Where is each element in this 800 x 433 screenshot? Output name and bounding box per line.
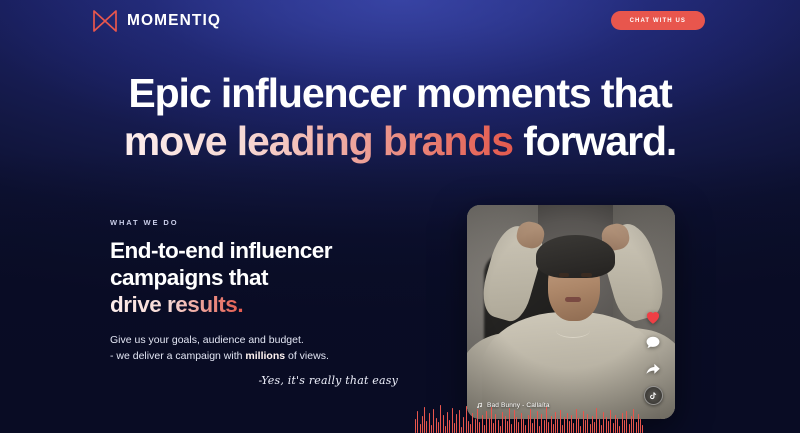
- audio-waveform: [415, 401, 643, 433]
- waveform-bar: [622, 413, 623, 433]
- body-line-1: Give us your goals, audience and budget.: [110, 332, 410, 348]
- waveform-bar: [468, 421, 469, 433]
- body-line-2: - we deliver a campaign with millions of…: [110, 348, 410, 364]
- waveform-bar: [447, 412, 448, 433]
- section-eyebrow: WHAT WE DO: [110, 218, 410, 227]
- site-header: MOMENTIQ CHAT WITH US: [0, 0, 800, 44]
- tiktok-video-card[interactable]: Bad Bunny - Callaíta: [467, 205, 675, 419]
- waveform-bar: [452, 408, 453, 433]
- waveform-bar: [445, 426, 446, 433]
- hero-line-2-highlight: leading brands: [237, 118, 513, 164]
- waveform-bar: [440, 405, 441, 433]
- waveform-bar: [594, 422, 595, 433]
- waveform-bar: [530, 409, 531, 433]
- waveform-bar: [537, 411, 538, 433]
- waveform-bar: [426, 421, 427, 433]
- waveform-bar: [539, 426, 540, 433]
- waveform-bar: [532, 423, 533, 433]
- waveform-bar: [608, 421, 609, 433]
- waveform-bar: [633, 409, 634, 433]
- waveform-bar: [557, 419, 558, 433]
- waveform-bar: [560, 410, 561, 433]
- waveform-bar: [615, 415, 616, 433]
- waveform-bar: [482, 415, 483, 433]
- hero-headline: Epic influencer moments that move leadin…: [0, 72, 800, 164]
- section-title-line-3-plain: drive: [110, 292, 167, 317]
- section-title-line-1: End-to-end influencer: [110, 237, 410, 264]
- waveform-bar: [541, 414, 542, 433]
- waveform-bar: [470, 424, 471, 433]
- waveform-bar: [521, 413, 522, 433]
- hero-line-2: move leading brands forward.: [0, 120, 800, 164]
- waveform-bar: [587, 414, 588, 433]
- waveform-bar: [596, 408, 597, 433]
- waveform-bar: [534, 418, 535, 433]
- what-we-do-panel: WHAT WE DO End-to-end influencer campaig…: [110, 218, 410, 387]
- waveform-bar: [436, 418, 437, 433]
- waveform-bar: [463, 417, 464, 433]
- waveform-bar: [507, 421, 508, 433]
- waveform-bar: [486, 411, 487, 433]
- waveform-bar: [489, 418, 490, 433]
- waveform-bar: [606, 417, 607, 433]
- waveform-bar: [500, 426, 501, 433]
- waveform-bar: [459, 410, 460, 433]
- waveform-bar: [493, 423, 494, 433]
- waveform-bar: [495, 414, 496, 433]
- waveform-bar: [415, 419, 416, 433]
- waveform-bar: [420, 424, 421, 433]
- waveform-bar: [599, 419, 600, 433]
- waveform-bar: [443, 415, 444, 433]
- waveform-bar: [438, 422, 439, 433]
- brand-logo[interactable]: MOMENTIQ: [92, 9, 221, 33]
- waveform-bar: [523, 419, 524, 433]
- waveform-bar: [461, 427, 462, 433]
- waveform-bar: [449, 420, 450, 433]
- section-body: Give us your goals, audience and budget.…: [110, 332, 410, 365]
- waveform-bar: [601, 425, 602, 433]
- waveform-bar: [553, 424, 554, 433]
- waveform-bar: [636, 422, 637, 433]
- body-line-2-highlight: millions: [245, 350, 285, 362]
- waveform-bar: [619, 426, 620, 433]
- brand-name: MOMENTIQ: [127, 13, 221, 29]
- waveform-bar: [629, 424, 630, 433]
- hero-line-2-prefix: move: [124, 118, 237, 164]
- waveform-bar: [509, 408, 510, 433]
- waveform-bar: [640, 419, 641, 433]
- waveform-bar: [555, 412, 556, 433]
- waveform-bar: [578, 418, 579, 433]
- body-line-2-prefix: - we deliver a campaign with: [110, 350, 245, 362]
- waveform-bar: [571, 415, 572, 433]
- waveform-bar: [456, 414, 457, 433]
- waveform-bar: [610, 410, 611, 433]
- waveform-bar: [433, 409, 434, 433]
- waveform-bar: [511, 424, 512, 433]
- hero-line-1: Epic influencer moments that: [0, 72, 800, 116]
- waveform-bar: [518, 422, 519, 433]
- waveform-bar: [564, 417, 565, 433]
- waveform-bar: [603, 412, 604, 433]
- waveform-bar: [546, 407, 547, 433]
- waveform-bar: [422, 416, 423, 433]
- waveform-bar: [544, 420, 545, 433]
- share-icon[interactable]: [644, 360, 662, 378]
- waveform-bar: [472, 413, 473, 433]
- like-icon[interactable]: [644, 308, 662, 326]
- hero-line-2-suffix: forward.: [513, 118, 676, 164]
- waveform-bar: [624, 420, 625, 433]
- waveform-bar: [590, 424, 591, 433]
- waveform-bar: [573, 423, 574, 433]
- momentiq-bowtie-mark-icon: [92, 9, 118, 33]
- waveform-bar: [502, 412, 503, 433]
- waveform-bar: [638, 414, 639, 433]
- waveform-bar: [613, 423, 614, 433]
- waveform-bar: [583, 411, 584, 433]
- waveform-bar: [484, 425, 485, 433]
- waveform-bar: [617, 418, 618, 433]
- chat-with-us-button[interactable]: CHAT WITH US: [611, 11, 705, 30]
- waveform-bar: [569, 421, 570, 433]
- section-title-line-2: campaigns that: [110, 264, 410, 291]
- waveform-bar: [592, 416, 593, 433]
- waveform-bar: [417, 411, 418, 433]
- waveform-bar: [642, 425, 643, 433]
- waveform-bar: [516, 417, 517, 433]
- waveform-bar: [514, 410, 515, 433]
- waveform-bar: [479, 422, 480, 433]
- waveform-bar: [454, 423, 455, 433]
- body-line-2-suffix: of views.: [285, 350, 329, 362]
- waveform-bar: [551, 416, 552, 433]
- section-title-line-3: drive results.: [110, 291, 410, 318]
- waveform-bar: [475, 419, 476, 433]
- waveform-bar: [626, 411, 627, 433]
- waveform-bar: [498, 420, 499, 433]
- waveform-bar: [528, 415, 529, 433]
- waveform-bar: [466, 406, 467, 433]
- waveform-bar: [477, 409, 478, 433]
- tiktok-action-rail: [640, 308, 666, 405]
- waveform-bar: [585, 420, 586, 433]
- waveform-bar: [548, 422, 549, 433]
- section-title-line-3-highlight: results.: [167, 292, 243, 317]
- landing-page: MOMENTIQ CHAT WITH US Epic influencer mo…: [0, 0, 800, 433]
- waveform-bar: [424, 407, 425, 433]
- comment-icon[interactable]: [644, 334, 662, 352]
- waveform-bar: [429, 413, 430, 433]
- waveform-bar: [491, 407, 492, 433]
- waveform-bar: [576, 409, 577, 433]
- tiktok-music-disc-icon[interactable]: [644, 386, 663, 405]
- waveform-bar: [525, 425, 526, 433]
- waveform-bar: [567, 413, 568, 433]
- handwritten-note: -Yes, it's really that easy: [110, 374, 410, 387]
- waveform-bar: [562, 425, 563, 433]
- waveform-bar: [580, 426, 581, 433]
- waveform-bar: [431, 425, 432, 433]
- waveform-bar: [505, 416, 506, 433]
- section-title: End-to-end influencer campaigns that dri…: [110, 237, 410, 318]
- waveform-bar: [631, 416, 632, 433]
